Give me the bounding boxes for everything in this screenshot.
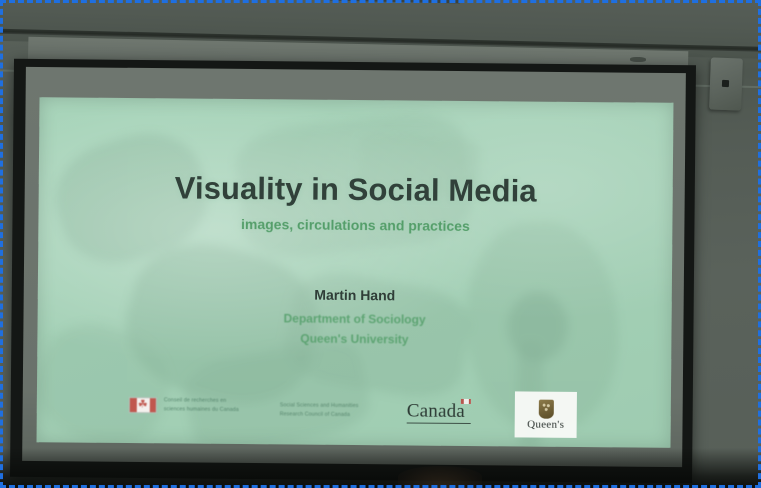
sshrc-french-line-2: sciences humaines du Canada [164,405,239,415]
slide-title: Visuality in Social Media [39,169,673,211]
canada-wordmark-flag-icon [461,399,471,404]
sensor-led-icon [722,80,729,87]
room-foreground-shadow [0,448,761,488]
canada-wordmark-underline [407,422,471,424]
slide-subtitle: images, circulations and practices [38,214,672,236]
presenter-institution: Queen's University [37,329,671,349]
canada-wordmark: Canada [407,400,465,423]
audience-head-silhouette [398,466,482,488]
photograph-canvas: Visuality in Social Media images, circul… [0,0,761,488]
queens-university-logo: Queen's [515,391,577,438]
queens-crest-icon [538,399,553,418]
maple-leaf-icon: ☘ [138,400,148,411]
queens-wordmark: Queen's [527,419,564,430]
screen-roller-notch [630,57,646,62]
projected-slide: Visuality in Social Media images, circul… [37,97,674,448]
sponsor-logo-row: ☘ Conseil de recherches en sciences huma… [37,387,671,443]
presenter-department: Department of Sociology [38,309,672,329]
sshrc-english-line-2: Research Council of Canada [280,410,359,420]
presenter-name: Martin Hand [38,284,672,306]
sshrc-logo: ☘ Conseil de recherches en sciences huma… [129,396,239,415]
sshrc-english-text: Social Sciences and Humanities Research … [280,401,359,420]
slide-content: Visuality in Social Media images, circul… [37,97,674,448]
canadian-flag-icon: ☘ [129,397,157,413]
sshrc-french-text: Conseil de recherches en sciences humain… [164,396,239,415]
